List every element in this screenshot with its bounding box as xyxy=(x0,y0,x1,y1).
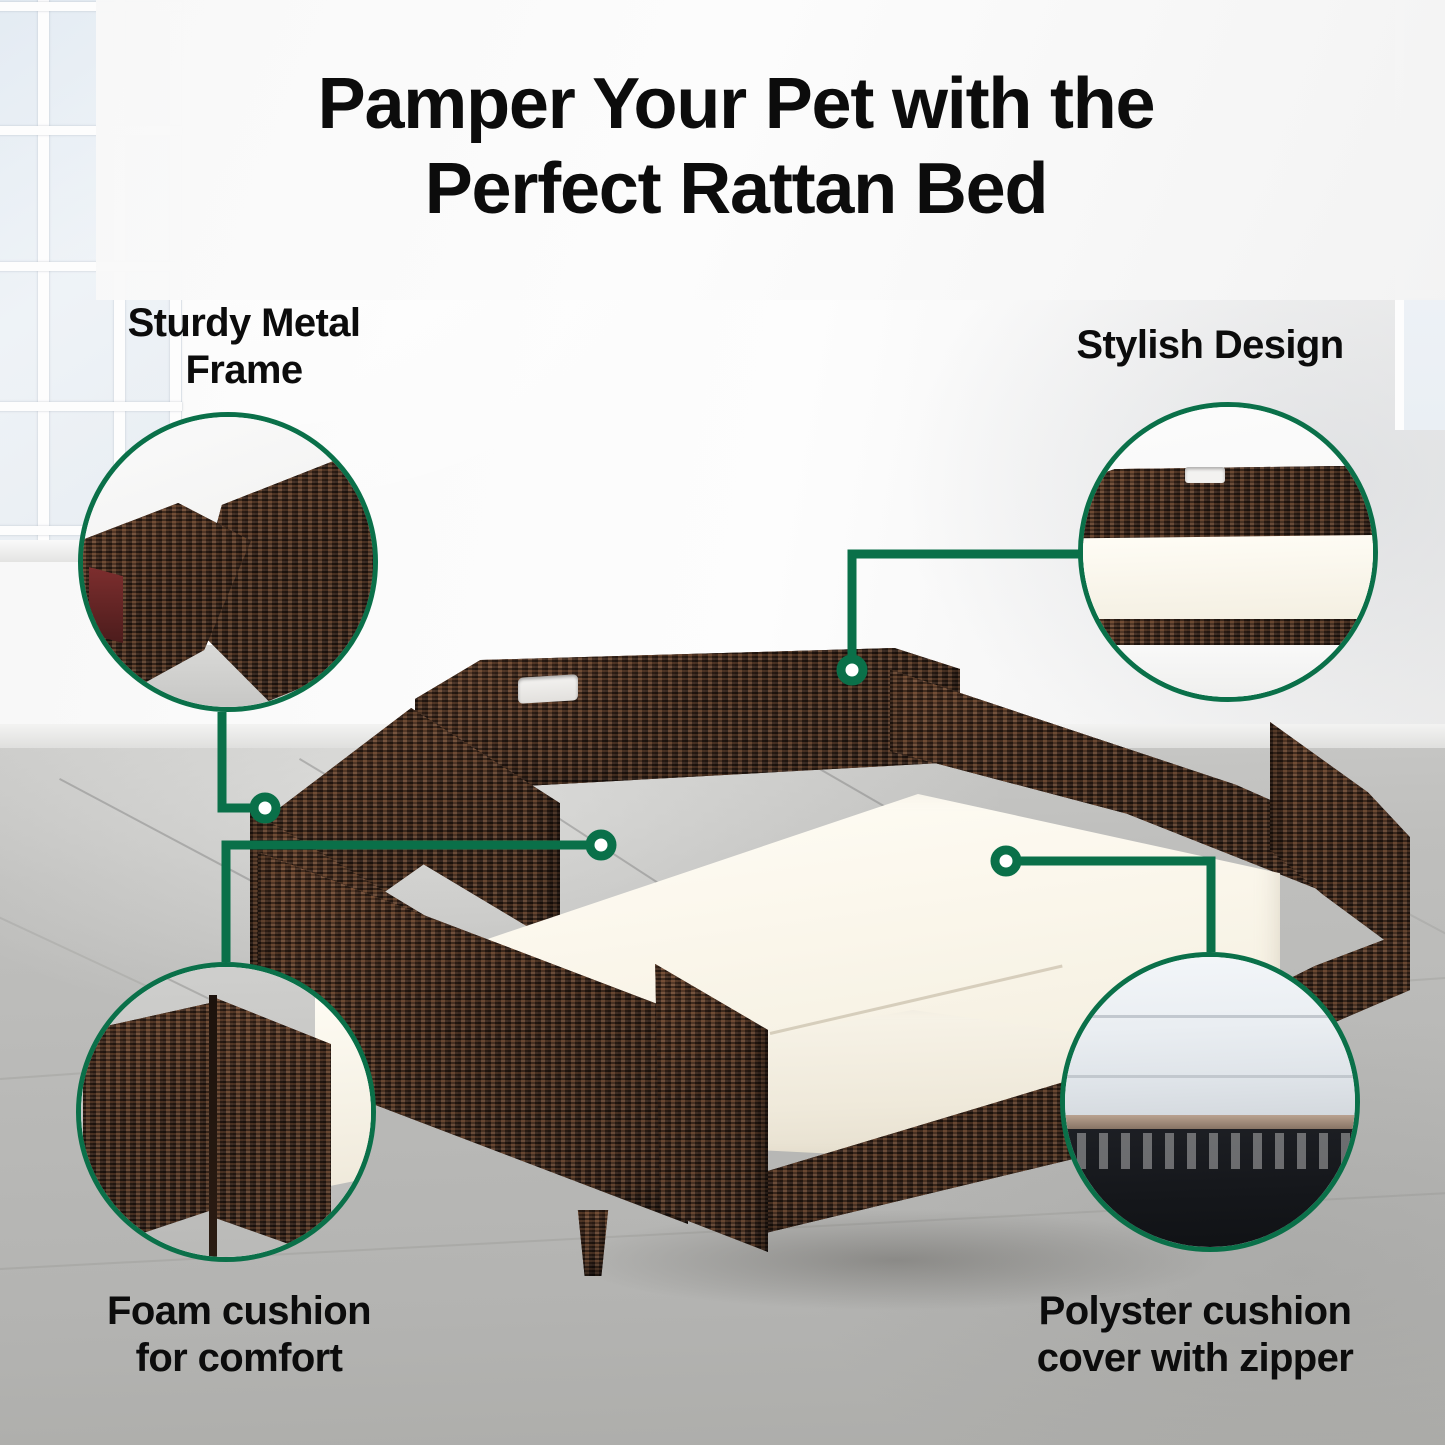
infographic-canvas: Pamper Your Pet with the Perfect Rattan … xyxy=(0,0,1445,1445)
callout-label-sturdy-metal-frame: Sturdy Metal Frame xyxy=(34,300,454,394)
page-title-line-2: Perfect Rattan Bed xyxy=(96,147,1376,232)
magnifier-foam-cushion xyxy=(76,962,376,1262)
window-mullion-horizontal xyxy=(0,402,182,411)
magnifier-polyster-cushion xyxy=(1060,952,1360,1252)
page-title: Pamper Your Pet with the Perfect Rattan … xyxy=(96,62,1376,232)
magnifier-image-bed-side-profile-with-cushion xyxy=(1083,407,1373,697)
bed-handle-cutout xyxy=(518,674,578,704)
magnifier-image-rattan-corner-post-and-cushion xyxy=(81,967,371,1257)
callout-label-foam-cushion: Foam cushion for comfort xyxy=(24,1288,454,1382)
callout-label-polyster-cushion: Polyster cushion cover with zipper xyxy=(960,1288,1430,1382)
callout-label-stylish-design: Stylish Design xyxy=(1000,322,1420,369)
magnifier-image-rattan-frame-corner-closeup xyxy=(83,417,373,707)
window-mullion-vertical xyxy=(38,0,49,552)
page-title-line-1: Pamper Your Pet with the xyxy=(96,62,1376,147)
magnifier-stylish-design xyxy=(1078,402,1378,702)
magnifier-image-cushion-fabric-zipper-closeup xyxy=(1065,957,1355,1247)
rattan-pet-bed xyxy=(250,630,1170,1270)
magnifier-sturdy-metal-frame xyxy=(78,412,378,712)
